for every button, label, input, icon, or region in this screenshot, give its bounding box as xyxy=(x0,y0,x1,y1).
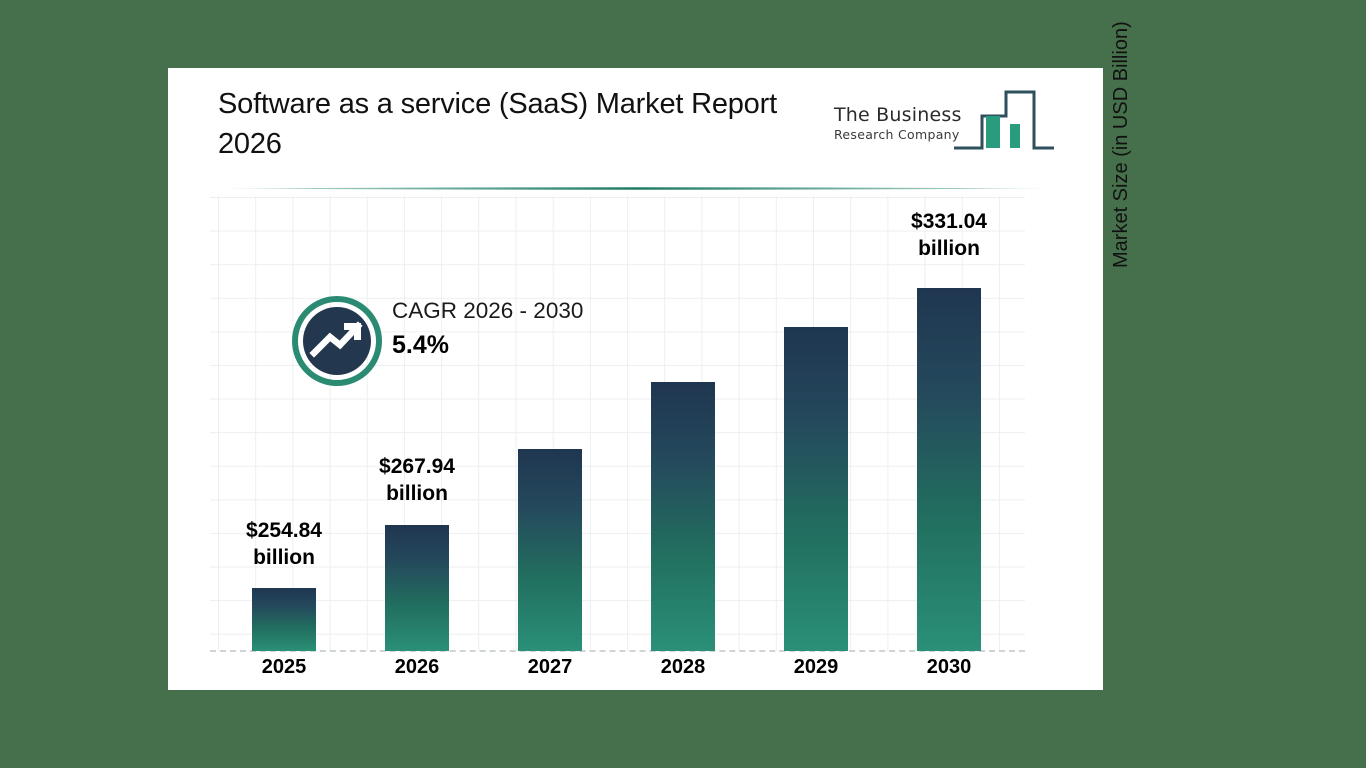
value-label-2025-unit: billion xyxy=(209,545,359,572)
chart-card: Software as a service (SaaS) Market Repo… xyxy=(168,68,1103,690)
bar-2027[interactable] xyxy=(518,449,582,651)
trending-up-icon xyxy=(292,296,382,386)
plot-area: $254.84 billion $267.94 billion $331.04 … xyxy=(210,196,1062,651)
bar-2026[interactable] xyxy=(385,525,449,651)
cagr-period-label: CAGR 2026 - 2030 xyxy=(392,298,583,324)
value-label-2030: $331.04 billion xyxy=(874,209,1024,263)
bar-series: $254.84 billion $267.94 billion $331.04 … xyxy=(210,196,1025,651)
xtick-2029: 2029 xyxy=(756,656,876,679)
bar-chart-logo-mark-icon xyxy=(950,86,1058,162)
value-label-2026: $267.94 billion xyxy=(342,454,492,508)
value-label-2025-amount: $254.84 xyxy=(209,518,359,545)
x-axis: 2025 2026 2027 2028 2029 2030 xyxy=(210,656,1062,686)
xtick-2027: 2027 xyxy=(490,656,610,679)
bar-2030[interactable] xyxy=(917,288,981,651)
cagr-badge: CAGR 2026 - 2030 5.4% xyxy=(292,288,712,392)
value-label-2026-unit: billion xyxy=(342,481,492,508)
xtick-2026: 2026 xyxy=(357,656,477,679)
value-label-2026-amount: $267.94 xyxy=(342,454,492,481)
value-label-2025: $254.84 billion xyxy=(209,518,359,572)
card-header: Software as a service (SaaS) Market Repo… xyxy=(168,68,1103,180)
xtick-2028: 2028 xyxy=(623,656,743,679)
cagr-text-block: CAGR 2026 - 2030 5.4% xyxy=(392,298,583,360)
cagr-value: 5.4% xyxy=(392,331,583,360)
bar-2025[interactable] xyxy=(252,588,316,651)
xtick-2030: 2030 xyxy=(889,656,1009,679)
header-divider xyxy=(210,186,1062,191)
value-label-2030-amount: $331.04 xyxy=(874,209,1024,236)
page-title: Software as a service (SaaS) Market Repo… xyxy=(218,84,818,164)
y-axis-title: Market Size (in USD Billion) xyxy=(1110,0,1133,268)
bar-2029[interactable] xyxy=(784,327,848,651)
xtick-2025: 2025 xyxy=(224,656,344,679)
bar-2028[interactable] xyxy=(651,382,715,651)
company-logo: The Business Research Company xyxy=(830,80,1062,172)
value-label-2030-unit: billion xyxy=(874,236,1024,263)
